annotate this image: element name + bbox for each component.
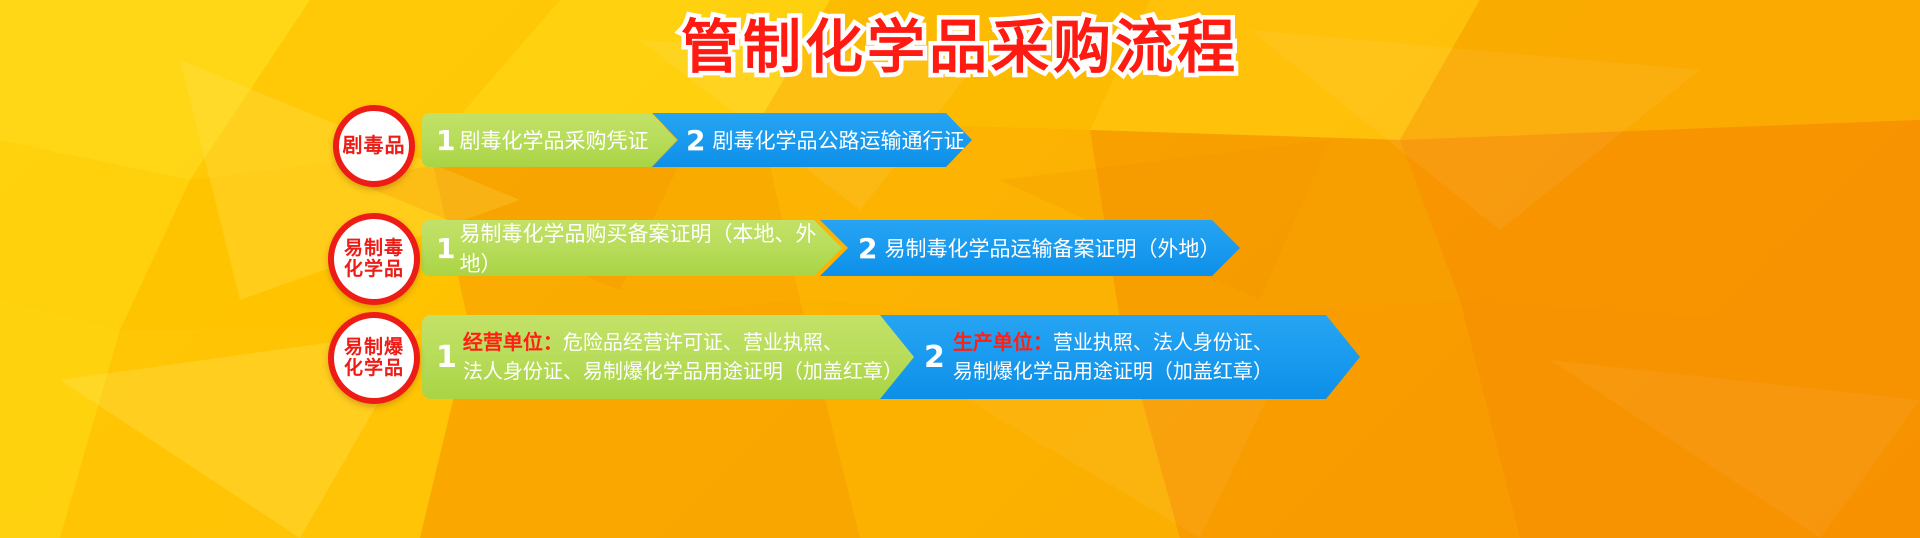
step-number: 2 — [858, 232, 877, 265]
step-1-toxic[interactable]: 1 剧毒化学品采购凭证 — [422, 113, 677, 167]
step-label-line1: 危险品经营许可证、营业执照、 — [563, 330, 843, 354]
step-2-precursor-explosive[interactable]: 2 生产单位：营业执照、法人身份证、 易制爆化学品用途证明（加盖红章） — [880, 315, 1360, 399]
step-label: 剧毒化学品公路运输通行证 — [712, 125, 964, 155]
step-label-line2: 易制爆化学品用途证明（加盖红章） — [953, 359, 1273, 383]
badge-line-2: 化学品 — [344, 259, 404, 280]
step-label-prefix: 经营单位： — [463, 330, 563, 354]
step-number: 1 — [436, 340, 457, 375]
category-badge-toxic[interactable]: 剧毒品 — [333, 105, 415, 187]
step-1-precursor-drug[interactable]: 1 易制毒化学品购买备案证明（本地、外地） — [422, 220, 842, 276]
step-number: 2 — [686, 124, 705, 157]
badge-line-2: 化学品 — [344, 358, 404, 379]
step-number: 1 — [436, 124, 455, 157]
step-2-toxic[interactable]: 2 剧毒化学品公路运输通行证 — [652, 113, 972, 167]
badge-line-1: 易制毒 — [344, 238, 404, 259]
step-label: 易制毒化学品运输备案证明（外地） — [884, 233, 1220, 263]
step-number: 1 — [436, 232, 455, 265]
step-label: 易制毒化学品购买备案证明（本地、外地） — [459, 218, 842, 278]
poster-canvas: 管制化学品采购流程 管制化学品采购流程 剧毒品 1 剧毒化学品采购凭证 2 剧毒… — [0, 0, 1920, 538]
step-2-precursor-drug[interactable]: 2 易制毒化学品运输备案证明（外地） — [820, 220, 1240, 276]
badge-line-1: 剧毒品 — [343, 135, 406, 157]
step-label-prefix: 生产单位： — [953, 330, 1053, 354]
step-number: 2 — [924, 340, 945, 375]
category-badge-precursor-drug[interactable]: 易制毒 化学品 — [328, 213, 420, 305]
step-label: 生产单位：营业执照、法人身份证、 易制爆化学品用途证明（加盖红章） — [953, 328, 1273, 386]
step-label-line2: 法人身份证、易制爆化学品用途证明（加盖红章） — [463, 359, 903, 383]
badge-line-1: 易制爆 — [344, 337, 404, 358]
page-title-text: 管制化学品采购流程 — [0, 8, 1920, 86]
category-badge-precursor-explosive[interactable]: 易制爆 化学品 — [328, 312, 420, 404]
page-title: 管制化学品采购流程 管制化学品采购流程 — [0, 8, 1920, 86]
step-label: 剧毒化学品采购凭证 — [459, 125, 648, 155]
step-1-precursor-explosive[interactable]: 1 经营单位：危险品经营许可证、营业执照、 法人身份证、易制爆化学品用途证明（加… — [422, 315, 922, 399]
step-label: 经营单位：危险品经营许可证、营业执照、 法人身份证、易制爆化学品用途证明（加盖红… — [463, 328, 903, 386]
step-label-line1: 营业执照、法人身份证、 — [1053, 330, 1273, 354]
